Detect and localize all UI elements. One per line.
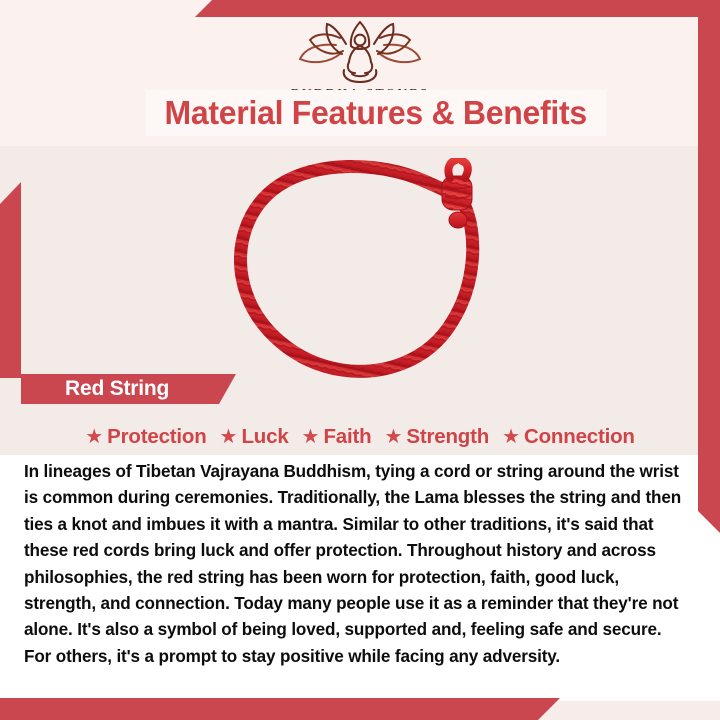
lotus-meditation-icon (294, 18, 426, 84)
decorative-top-band (195, 0, 720, 17)
benefit-label: Connection (524, 425, 635, 449)
star-icon: ★ (502, 427, 520, 447)
benefit-label: Strength (406, 425, 489, 449)
red-string-bracelet-image (232, 158, 496, 380)
benefit-item-luck: ★ Luck (220, 425, 289, 449)
page-title-band: Material Features & Benefits (146, 90, 606, 136)
decorative-bottom-band (0, 698, 560, 720)
infographic-poster: BUDDHA STONES Material Features & Benefi… (0, 0, 720, 720)
benefit-item-protection: ★ Protection (85, 425, 206, 449)
benefit-item-strength: ★ Strength (384, 425, 489, 449)
star-icon: ★ (384, 427, 402, 447)
benefit-label: Luck (241, 425, 288, 449)
bracelet-loop-shading (241, 166, 473, 371)
product-name-banner: Red String (21, 374, 236, 404)
star-icon: ★ (302, 427, 320, 447)
benefits-list: ★ Protection ★ Luck ★ Faith ★ Strength ★… (0, 418, 720, 455)
page-title: Material Features & Benefits (165, 94, 587, 132)
star-icon: ★ (220, 427, 238, 447)
benefit-label: Faith (323, 425, 371, 449)
decorative-left-bar (0, 182, 21, 378)
benefit-item-faith: ★ Faith (302, 425, 372, 449)
star-icon: ★ (85, 427, 103, 447)
product-description: In lineages of Tibetan Vajrayana Buddhis… (24, 458, 686, 669)
benefit-label: Protection (107, 425, 206, 449)
product-name-label: Red String (65, 377, 169, 401)
benefit-item-connection: ★ Connection (502, 425, 635, 449)
